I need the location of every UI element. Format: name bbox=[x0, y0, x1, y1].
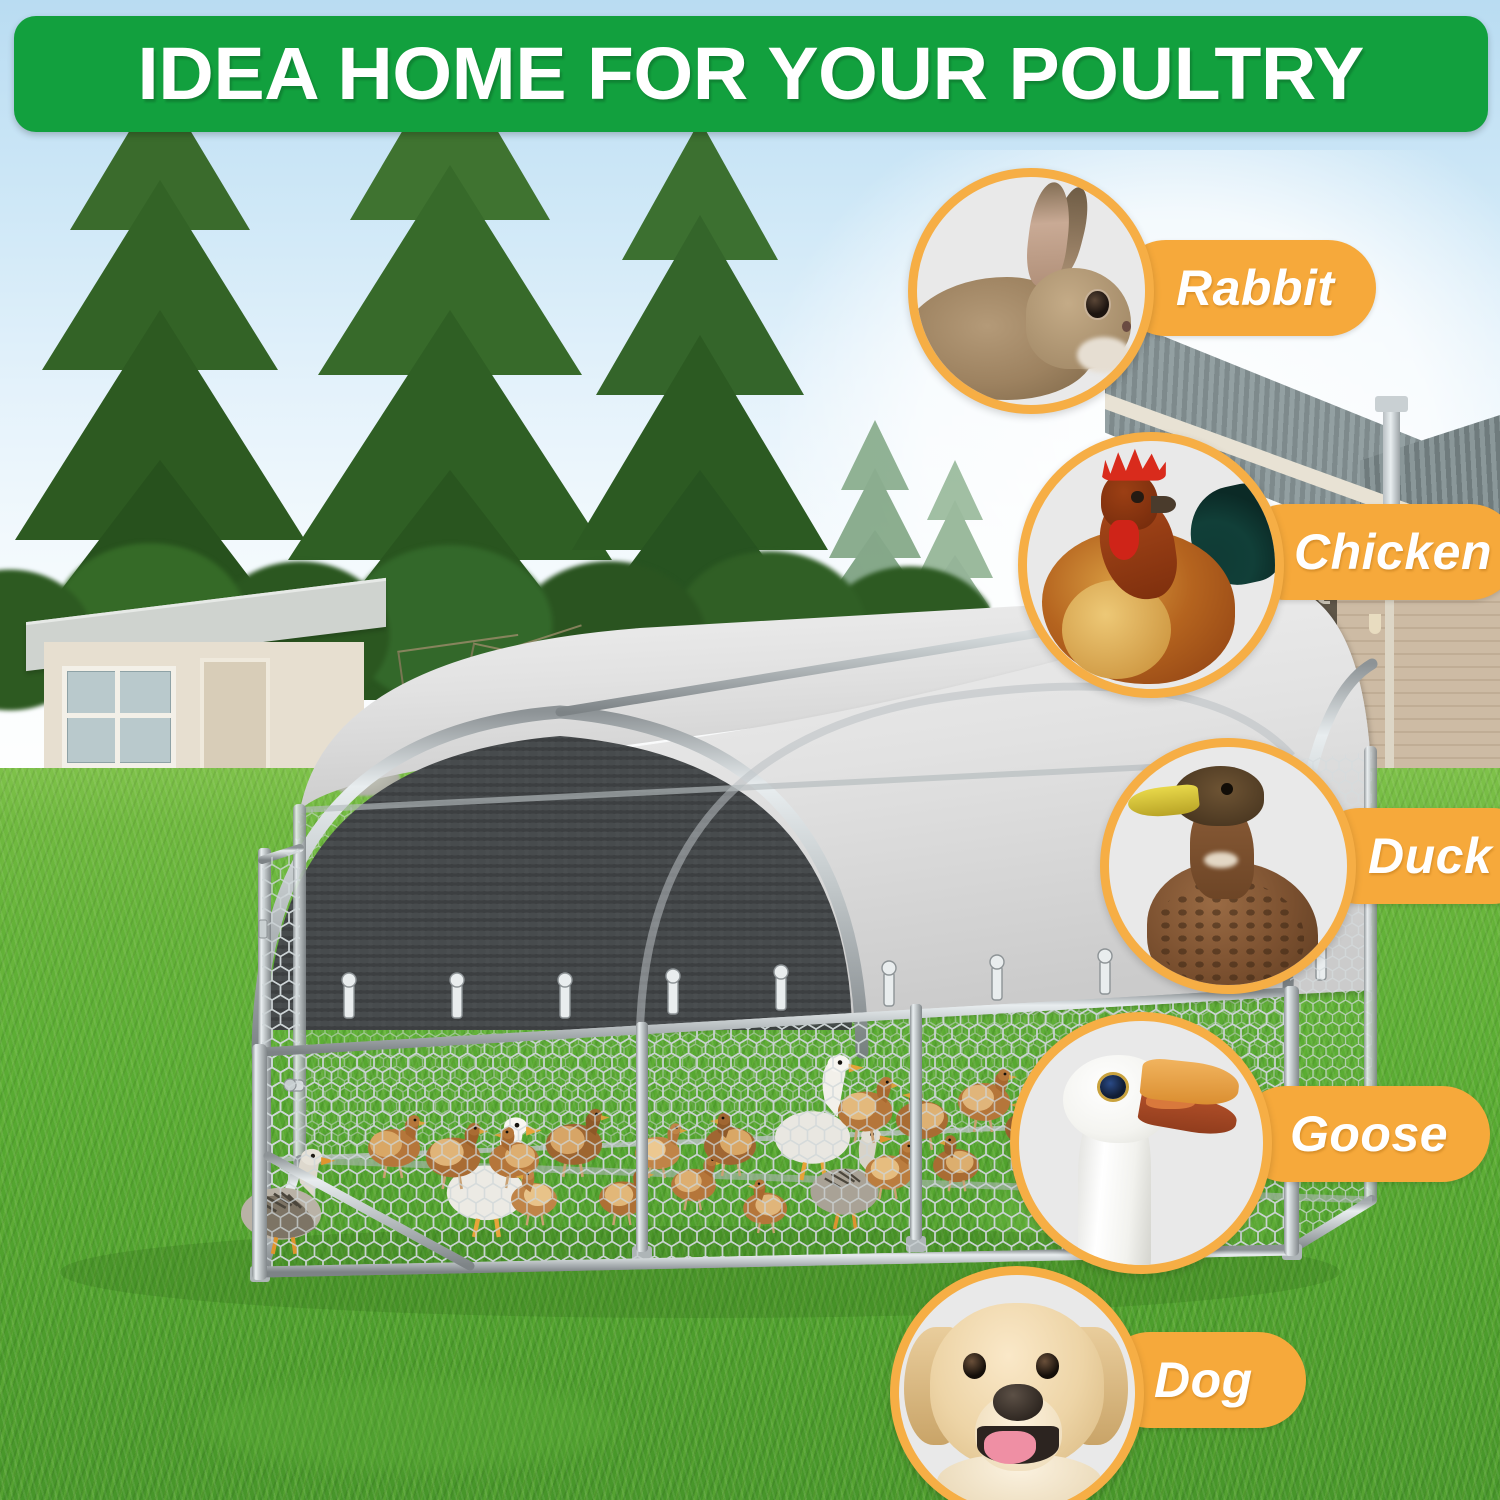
chimney-cap bbox=[1375, 396, 1408, 412]
rabbit-photo-icon bbox=[908, 168, 1154, 414]
callout-dog[interactable]: Dog bbox=[890, 1266, 1270, 1500]
product-marketing-image: IDEA HOME FOR YOUR POULTRY Rabbit Chicke… bbox=[0, 0, 1500, 1500]
headline-text: IDEA HOME FOR YOUR POULTRY bbox=[138, 37, 1364, 111]
duck-photo-icon bbox=[1100, 738, 1356, 994]
callout-pill-rabbit[interactable]: Rabbit bbox=[1118, 240, 1376, 336]
callout-label-dog: Dog bbox=[1154, 1351, 1253, 1409]
rooster-photo-icon bbox=[1018, 432, 1284, 698]
callout-label-rabbit: Rabbit bbox=[1176, 259, 1335, 317]
callout-chicken[interactable]: Chicken bbox=[1018, 432, 1468, 682]
callout-pill-goose[interactable]: Goose bbox=[1238, 1086, 1490, 1182]
lawn-highlight bbox=[200, 1380, 620, 1470]
goose-photo-icon bbox=[1010, 1012, 1272, 1274]
callout-rabbit[interactable]: Rabbit bbox=[908, 168, 1328, 408]
callout-label-duck: Duck bbox=[1368, 827, 1492, 885]
headline-banner: IDEA HOME FOR YOUR POULTRY bbox=[14, 16, 1488, 132]
dog-photo-icon bbox=[890, 1266, 1144, 1500]
callout-goose[interactable]: Goose bbox=[1010, 1012, 1450, 1262]
callout-label-chicken: Chicken bbox=[1294, 523, 1492, 581]
callout-duck[interactable]: Duck bbox=[1100, 738, 1500, 978]
callout-label-goose: Goose bbox=[1290, 1105, 1448, 1163]
